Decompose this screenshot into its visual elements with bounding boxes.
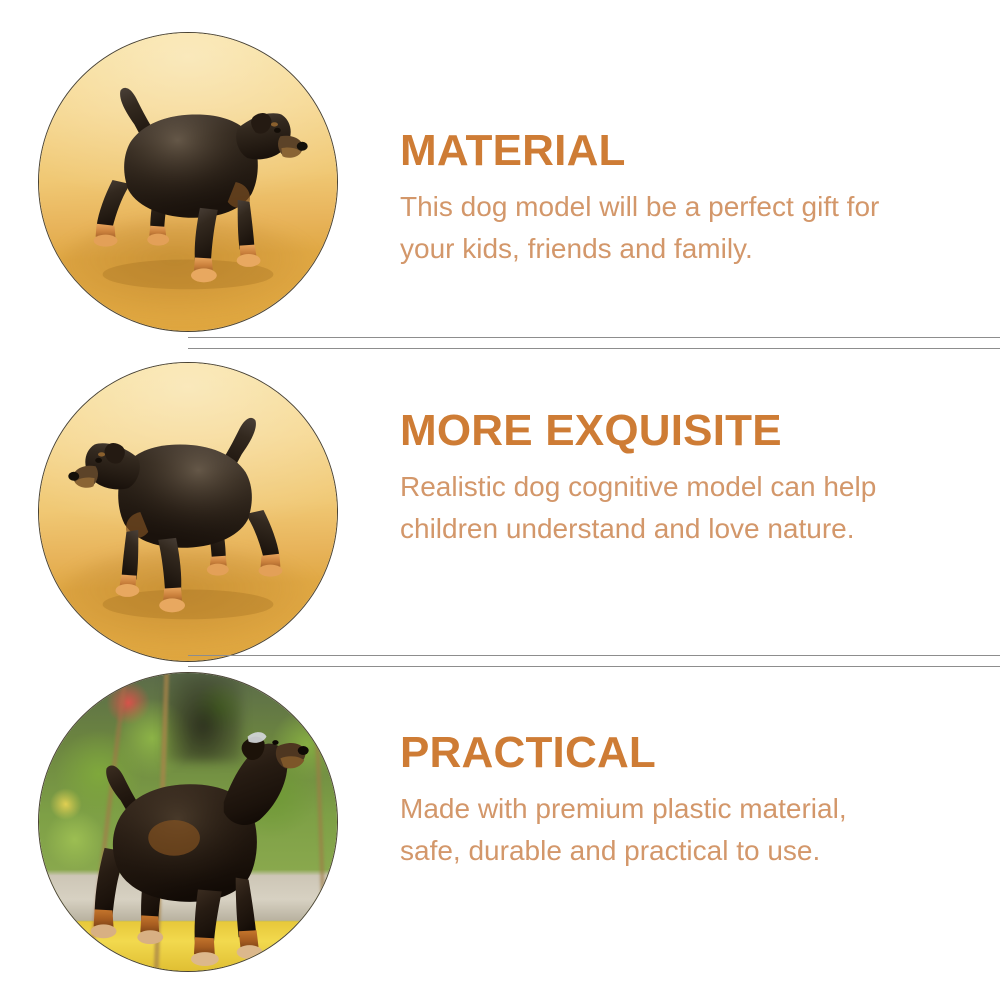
feature-image-material bbox=[38, 32, 338, 332]
feature-text-material: MATERIAL This dog model will be a perfec… bbox=[400, 128, 960, 269]
feature-title-material: MATERIAL bbox=[400, 128, 960, 174]
rottweiler-figurine-icon bbox=[39, 363, 337, 661]
product-feature-page: MATERIAL This dog model will be a perfec… bbox=[0, 0, 1000, 1000]
feature-image-more-exquisite bbox=[38, 362, 338, 662]
rottweiler-figurine-icon bbox=[39, 673, 337, 971]
feature-block-practical: PRACTICAL Made with premium plastic mate… bbox=[0, 660, 1000, 980]
feature-title-practical: PRACTICAL bbox=[400, 730, 960, 776]
feature-description-more-exquisite: Realistic dog cognitive model can help c… bbox=[400, 466, 900, 549]
feature-text-practical: PRACTICAL Made with premium plastic mate… bbox=[400, 730, 960, 871]
rottweiler-figurine-icon bbox=[39, 33, 337, 331]
feature-block-material: MATERIAL This dog model will be a perfec… bbox=[0, 20, 1000, 340]
feature-text-more-exquisite: MORE EXQUISITE Realistic dog cognitive m… bbox=[400, 408, 960, 549]
feature-image-practical bbox=[38, 672, 338, 972]
feature-description-material: This dog model will be a perfect gift fo… bbox=[400, 186, 900, 269]
divider-rule-top bbox=[188, 337, 1000, 338]
section-divider bbox=[188, 337, 1000, 349]
feature-block-more-exquisite: MORE EXQUISITE Realistic dog cognitive m… bbox=[0, 350, 1000, 670]
feature-description-practical: Made with premium plastic material, safe… bbox=[400, 788, 900, 871]
divider-rule-bottom bbox=[188, 348, 1000, 349]
feature-title-more-exquisite: MORE EXQUISITE bbox=[400, 408, 960, 454]
